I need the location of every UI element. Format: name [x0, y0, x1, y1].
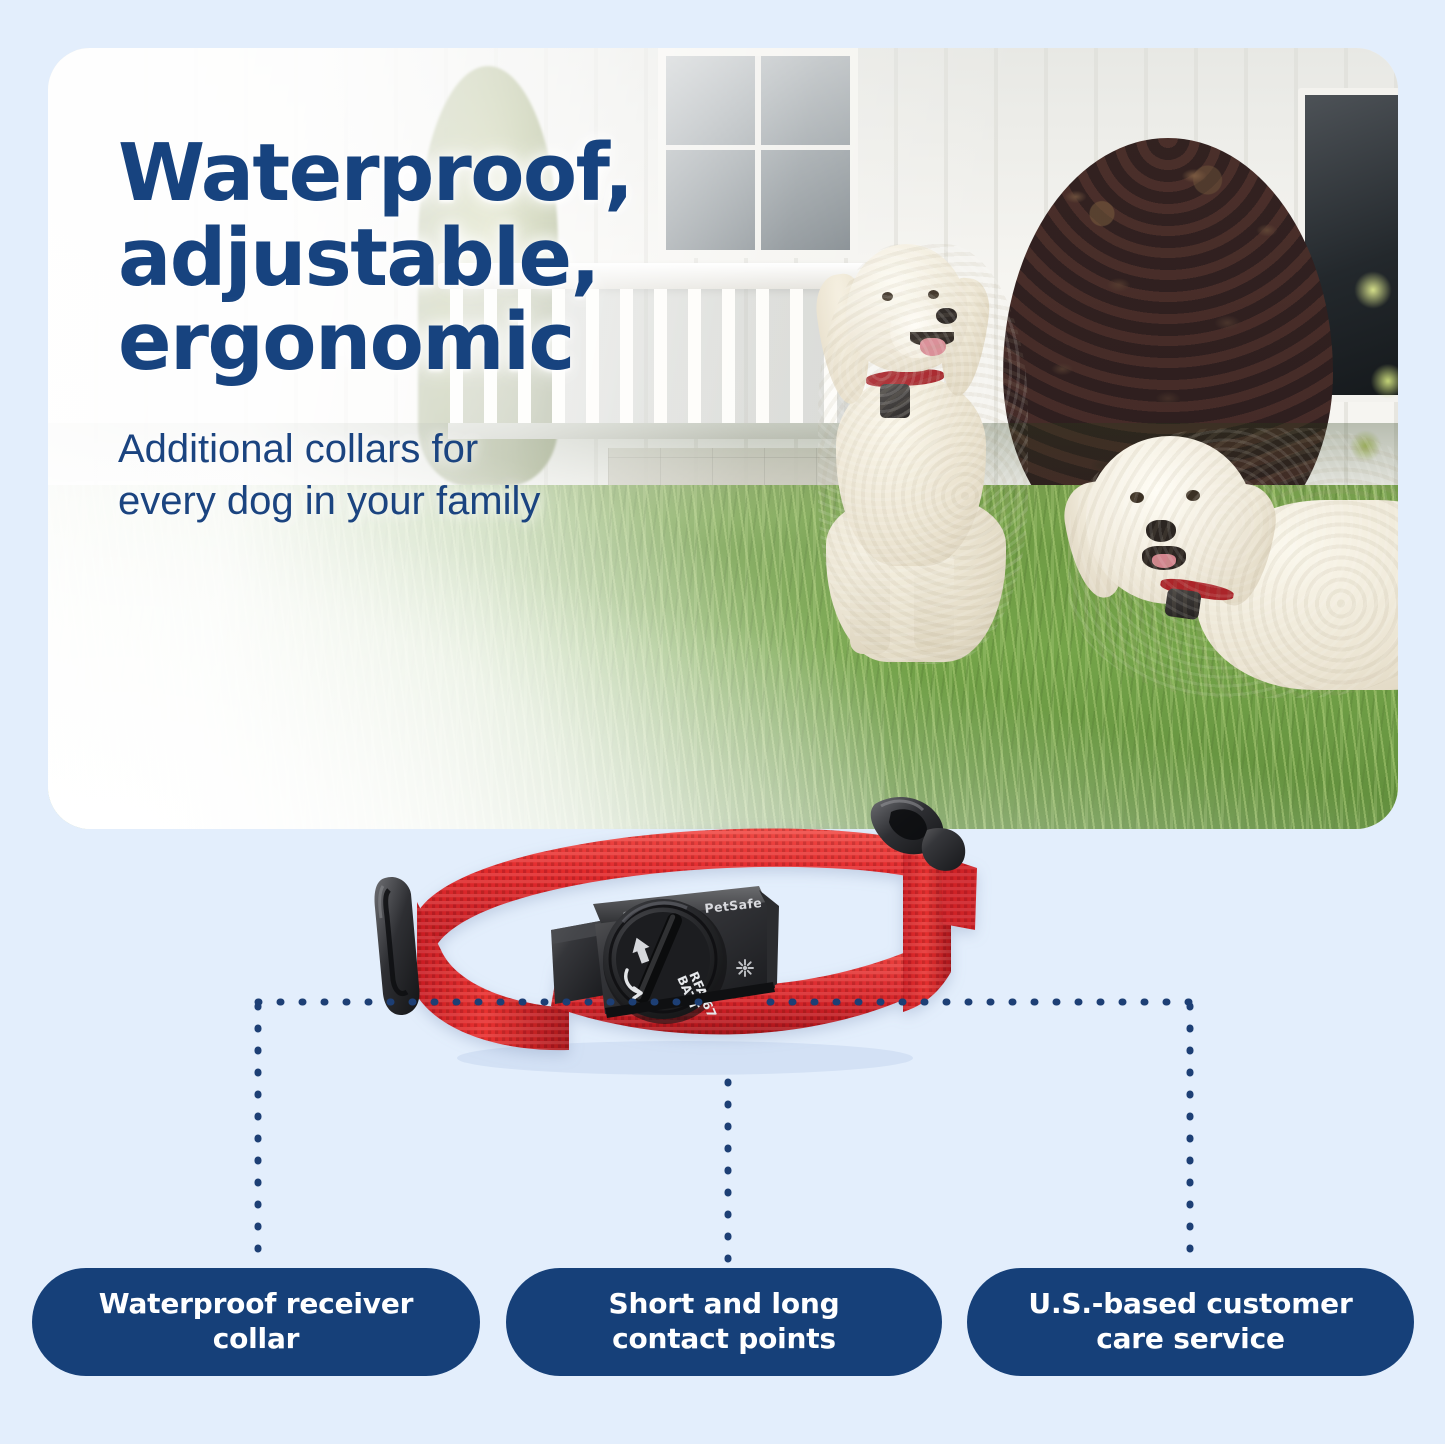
feature-pill-us-based-customer-care-service[interactable]: U.S.-based customer care service	[967, 1268, 1414, 1376]
hero-card: Waterproof, adjustable, ergonomic Additi…	[48, 48, 1398, 829]
hero-subhead: Additional collars for every dog in your…	[118, 423, 758, 529]
feature-pill-label: Waterproof receiver collar	[56, 1287, 456, 1356]
feature-pill-label: U.S.-based customer care service	[1028, 1287, 1352, 1356]
hero-copy: Waterproof, adjustable, ergonomic Additi…	[118, 131, 758, 528]
feature-panel: Waterproof, adjustable, ergonomic Additi…	[0, 0, 1445, 1444]
feature-pill-waterproof-receiver-collar[interactable]: Waterproof receiver collar	[32, 1268, 480, 1376]
feature-pill-row: Waterproof receiver collar Short and lon…	[0, 1268, 1445, 1380]
product-collar-image: PetSafe	[355, 782, 1015, 1082]
buckle-slider-left	[374, 877, 419, 1015]
feature-pill-short-and-long-contact-points[interactable]: Short and long contact points	[506, 1268, 942, 1376]
page-title: Waterproof, adjustable, ergonomic	[118, 131, 758, 385]
feature-pill-label: Short and long contact points	[609, 1287, 840, 1356]
indicator-light-icon	[737, 960, 753, 976]
